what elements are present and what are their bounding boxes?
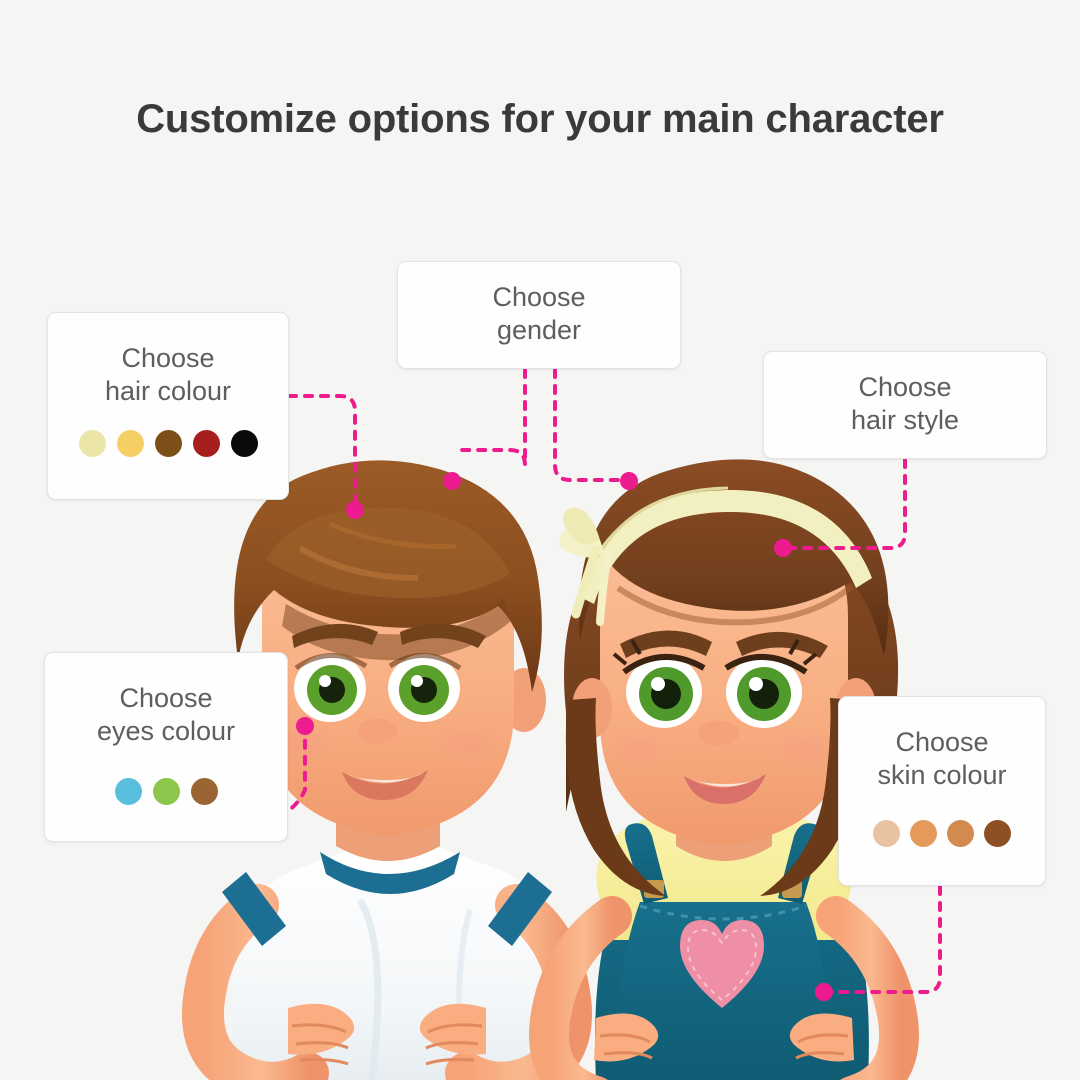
swatch-platinum-blonde[interactable] (79, 430, 106, 457)
swatch-black[interactable] (231, 430, 258, 457)
swatch-brown[interactable] (155, 430, 182, 457)
swatch-blue[interactable] (115, 778, 142, 805)
connector-dot-skin-colour (815, 983, 833, 1001)
connector-hair-style (786, 460, 905, 548)
swatch-medium-light[interactable] (910, 820, 937, 847)
eyes-colour-swatches[interactable] (115, 778, 218, 805)
swatch-medium[interactable] (947, 820, 974, 847)
swatch-green[interactable] (153, 778, 180, 805)
swatch-golden-blonde[interactable] (117, 430, 144, 457)
connector-dot-gender-boy (443, 472, 461, 490)
connector-dot-hair-colour (346, 501, 364, 519)
skin-colour-swatches[interactable] (873, 820, 1011, 847)
card-hair-style-label: Choose hair style (851, 371, 959, 437)
card-eyes-colour[interactable]: Choose eyes colour (44, 652, 288, 842)
connector-hair-colour (289, 396, 355, 506)
connector-dot-eyes-colour (296, 717, 314, 735)
card-skin-colour-label: Choose skin colour (877, 726, 1006, 792)
card-gender[interactable]: Choose gender (397, 261, 681, 369)
card-hair-colour-label: Choose hair colour (105, 342, 231, 408)
connector-gender-boy (455, 370, 525, 465)
card-hair-style[interactable]: Choose hair style (763, 351, 1047, 459)
connector-lines (0, 0, 1080, 1080)
card-skin-colour[interactable]: Choose skin colour (838, 696, 1046, 886)
swatch-auburn-red[interactable] (193, 430, 220, 457)
hair-colour-swatches[interactable] (79, 430, 258, 457)
character-customizer-screen: Customize options for your main characte… (0, 0, 1080, 1080)
swatch-light[interactable] (873, 820, 900, 847)
connector-dot-hair-style (774, 539, 792, 557)
connector-gender-girl (555, 370, 626, 480)
card-hair-colour[interactable]: Choose hair colour (47, 312, 289, 500)
swatch-brown[interactable] (191, 778, 218, 805)
card-gender-label: Choose gender (492, 281, 585, 347)
connector-skin-colour (828, 887, 940, 992)
connector-dot-gender-girl (620, 472, 638, 490)
swatch-dark[interactable] (984, 820, 1011, 847)
card-eyes-colour-label: Choose eyes colour (97, 682, 235, 748)
